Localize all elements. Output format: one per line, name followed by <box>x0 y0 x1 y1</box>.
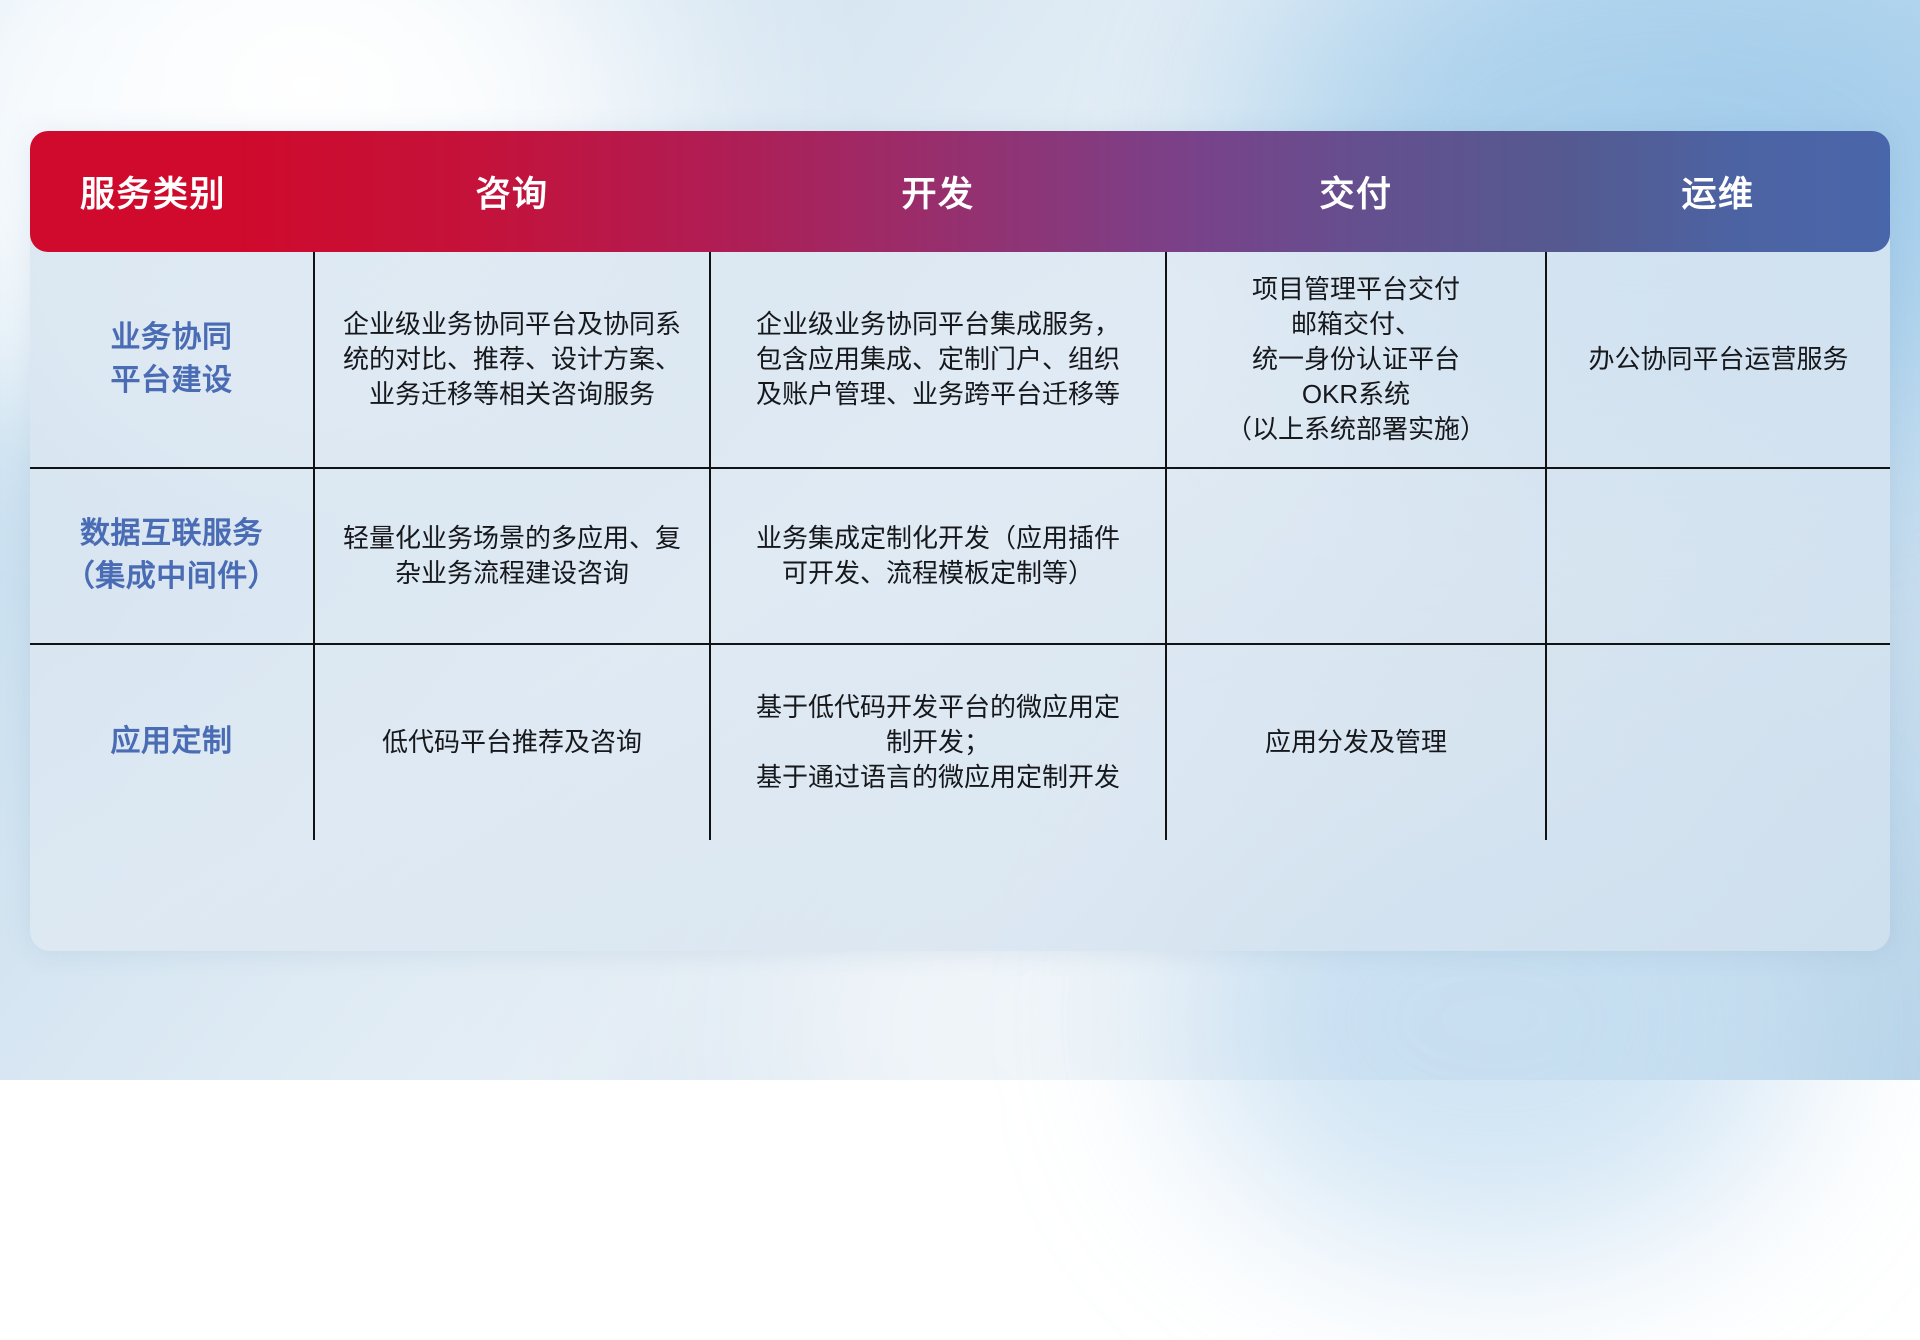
service-matrix-table: 服务类别 咨询 开发 交付 运维 业务协同 平台建设 企业级业务协同平台及协同系… <box>30 131 1890 840</box>
table-row: 应用定制 低代码平台推荐及咨询 基于低代码开发平台的微应用定 制开发； 基于通过… <box>30 644 1890 840</box>
cell-r1-operations: 办公协同平台运营服务 <box>1546 252 1890 468</box>
table-row: 业务协同 平台建设 企业级业务协同平台及协同系 统的对比、推荐、设计方案、 业务… <box>30 252 1890 468</box>
cell-r1-development: 企业级业务协同平台集成服务， 包含应用集成、定制门户、组织 及账户管理、业务跨平… <box>710 252 1166 468</box>
cell-r2-delivery <box>1166 468 1546 644</box>
cell-r3-delivery: 应用分发及管理 <box>1166 644 1546 840</box>
column-header-consulting: 咨询 <box>314 131 710 252</box>
cell-r2-consulting: 轻量化业务场景的多应用、复 杂业务流程建设咨询 <box>314 468 710 644</box>
cell-r3-consulting: 低代码平台推荐及咨询 <box>314 644 710 840</box>
cell-r2-development: 业务集成定制化开发（应用插件 可开发、流程模板定制等） <box>710 468 1166 644</box>
slide-canvas: 服务类别 咨询 开发 交付 运维 业务协同 平台建设 企业级业务协同平台及协同系… <box>0 0 1920 1080</box>
row-label-data-integration: 数据互联服务 （集成中间件） <box>30 468 314 644</box>
cell-r2-operations <box>1546 468 1890 644</box>
cell-r1-delivery: 项目管理平台交付 邮箱交付、 统一身份认证平台 OKR系统 （以上系统部署实施） <box>1166 252 1546 468</box>
row-label-business-collaboration: 业务协同 平台建设 <box>30 252 314 468</box>
table-header: 服务类别 咨询 开发 交付 运维 <box>30 131 1890 252</box>
column-header-category: 服务类别 <box>30 131 314 252</box>
table-body: 业务协同 平台建设 企业级业务协同平台及协同系 统的对比、推荐、设计方案、 业务… <box>30 252 1890 840</box>
cell-r3-operations <box>1546 644 1890 840</box>
cell-r1-consulting: 企业级业务协同平台及协同系 统的对比、推荐、设计方案、 业务迁移等相关咨询服务 <box>314 252 710 468</box>
row-label-app-customization: 应用定制 <box>30 644 314 840</box>
column-header-operations: 运维 <box>1546 131 1890 252</box>
column-header-development: 开发 <box>710 131 1166 252</box>
header-row: 服务类别 咨询 开发 交付 运维 <box>30 131 1890 252</box>
table-row: 数据互联服务 （集成中间件） 轻量化业务场景的多应用、复 杂业务流程建设咨询 业… <box>30 468 1890 644</box>
column-header-delivery: 交付 <box>1166 131 1546 252</box>
cell-r3-development: 基于低代码开发平台的微应用定 制开发； 基于通过语言的微应用定制开发 <box>710 644 1166 840</box>
